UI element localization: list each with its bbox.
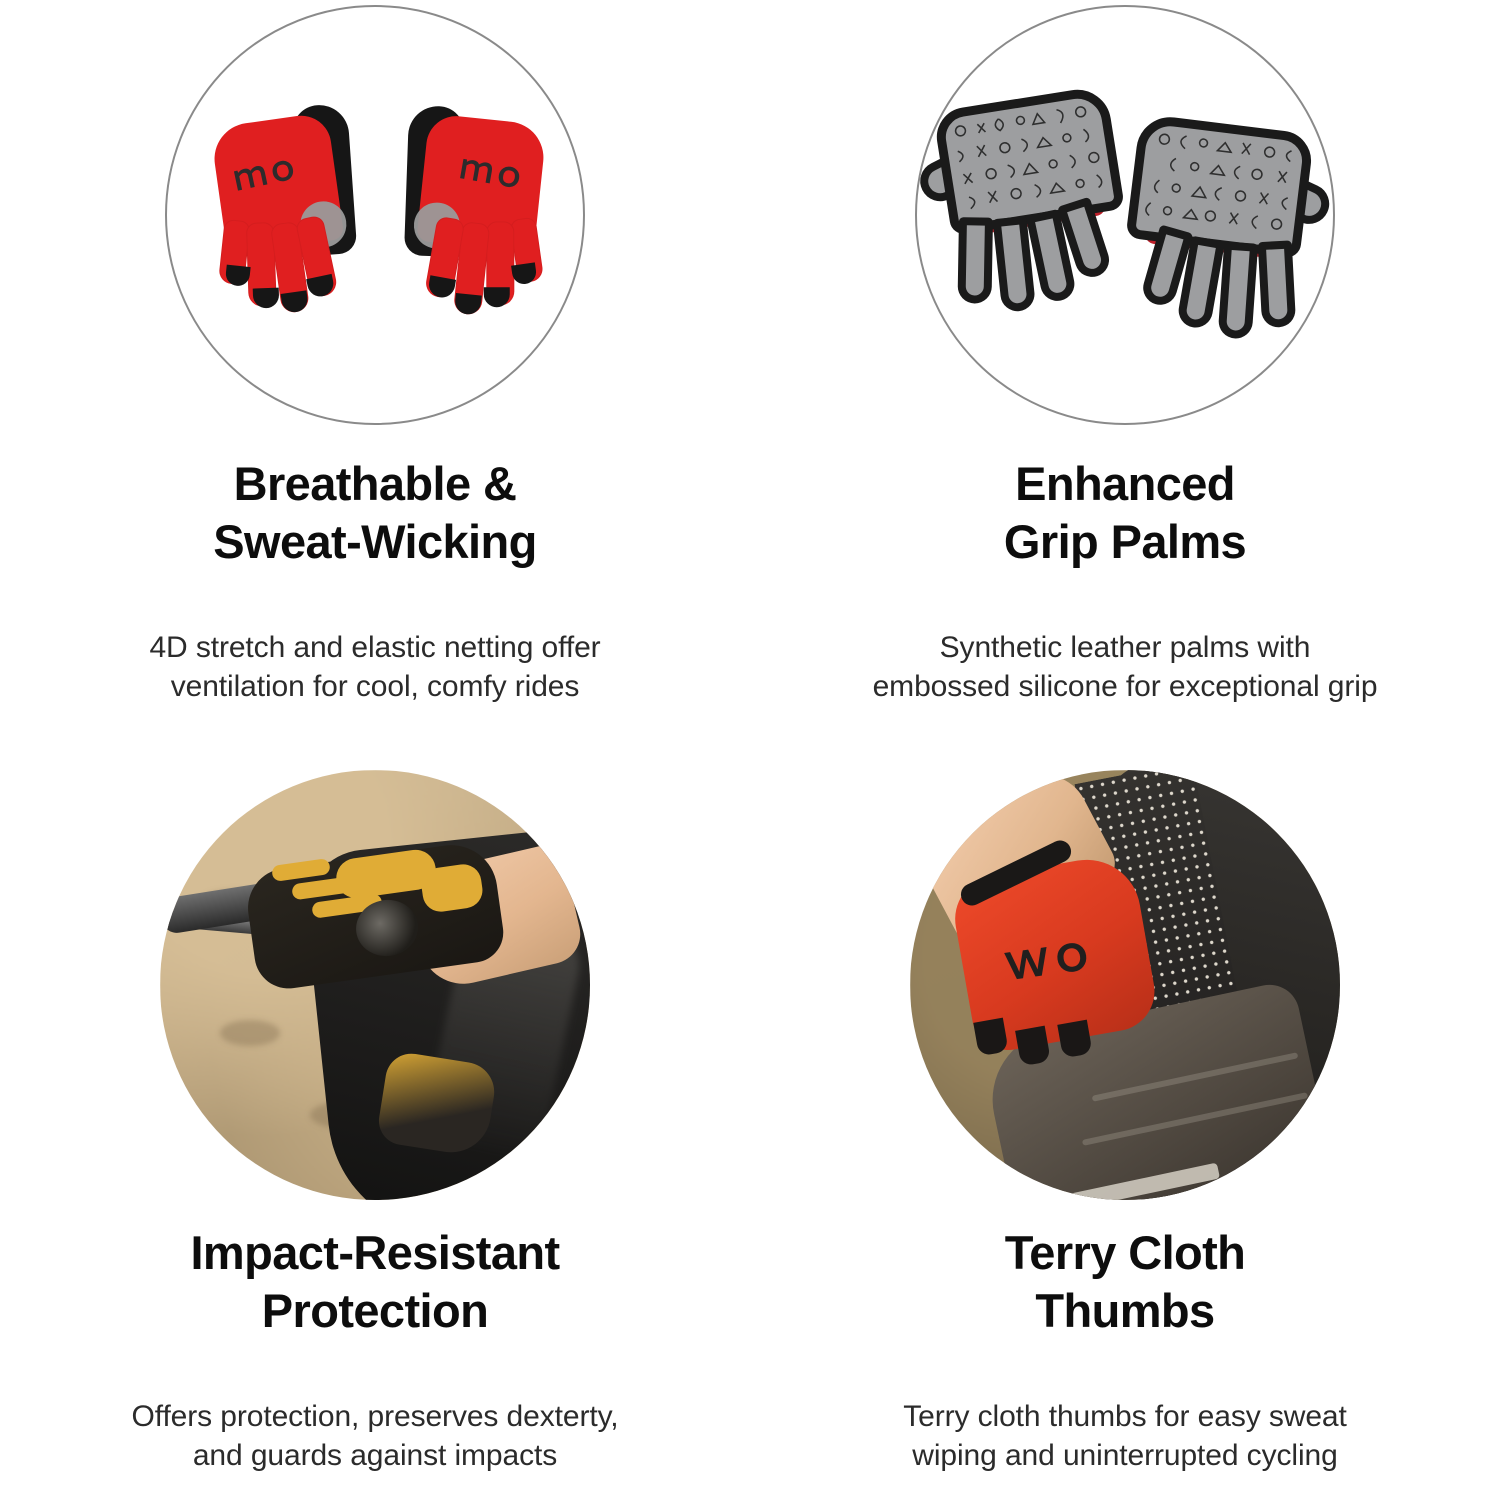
glove-left: ｍｏ [200,93,381,342]
feature-heading: EnhancedGrip Palms [1004,455,1246,572]
feature-grid: ｍｏ ｍｏ [0,0,1500,1490]
glove-fingertip [511,262,538,285]
glove-finger [1258,240,1296,328]
feature-card-terry-cloth-thumbs: ｗｏ Terry ClothThumbs Terry cloth thumbs … [750,745,1500,1490]
grey-grip-palm-gloves-pair-image [915,5,1335,425]
glove-fingertip [306,274,336,299]
glove-right: ｍｏ [383,95,556,339]
gloved-hand-on-handlebar-image [160,770,590,1200]
description-line-1: Offers protection, preserves dexterty, [132,1400,619,1433]
description-line-1: Synthetic leather palms with [940,631,1311,664]
description-line-2: ventilation for cool, comfy rides [171,670,580,703]
feature-heading: Terry ClothThumbs [1005,1224,1246,1341]
handlebar-scene [160,770,590,1200]
heading-line-2: Thumbs [1035,1284,1214,1337]
description-line-1: 4D stretch and elastic netting offer [149,631,600,664]
description-line-2: and guards against impacts [193,1439,557,1472]
red-cycling-gloves-pair-image: ｍｏ ｍｏ [165,5,585,425]
glove-fingertip [281,290,310,313]
heading-line-1: Breathable & [234,457,517,510]
glove-logo: ｗｏ [998,912,1097,994]
glove-finger [957,217,992,304]
feature-card-enhanced-grip-palms: EnhancedGrip Palms Synthetic leather pal… [750,0,1500,745]
feature-description: Synthetic leather palms withembossed sil… [873,628,1378,708]
heading-line-1: Impact-Resistant [190,1226,559,1279]
feature-description: Terry cloth thumbs for easy sweatwiping … [903,1397,1347,1477]
heading-line-2: Grip Palms [1004,515,1246,568]
description-line-1: Terry cloth thumbs for easy sweat [903,1400,1347,1433]
description-line-2: embossed silicone for exceptional grip [873,670,1378,703]
ground-speck [220,1020,280,1046]
glove-fingertip [427,275,456,299]
red-glove-scene: ｗｏ [910,770,1340,1200]
glove-palm-right [1101,104,1326,342]
feature-description: 4D stretch and elastic netting offervent… [149,628,600,708]
glove-palm [1126,113,1315,258]
feature-heading: Impact-ResistantProtection [190,1224,559,1341]
grey-gloves-scene [917,7,1333,423]
red-glove-resting-on-thigh-image: ｗｏ [910,770,1340,1200]
heading-line-2: Sweat-Wicking [213,515,536,568]
glove-fingertip [454,293,482,316]
red-gloves-scene: ｍｏ ｍｏ [167,7,583,423]
feature-heading: Breathable &Sweat-Wicking [213,455,536,572]
feature-card-breathable-sweat-wicking: ｍｏ ｍｏ [0,0,750,745]
glove-finger [1218,241,1259,339]
heading-line-2: Protection [262,1284,488,1337]
heading-line-1: Enhanced [1015,457,1235,510]
feature-description: Offers protection, preserves dexterty,an… [132,1397,619,1477]
feature-card-impact-resistant-protection: Impact-ResistantProtection Offers protec… [0,745,750,1490]
heading-line-1: Terry Cloth [1005,1226,1246,1279]
description-line-2: wiping and uninterrupted cycling [912,1439,1337,1472]
